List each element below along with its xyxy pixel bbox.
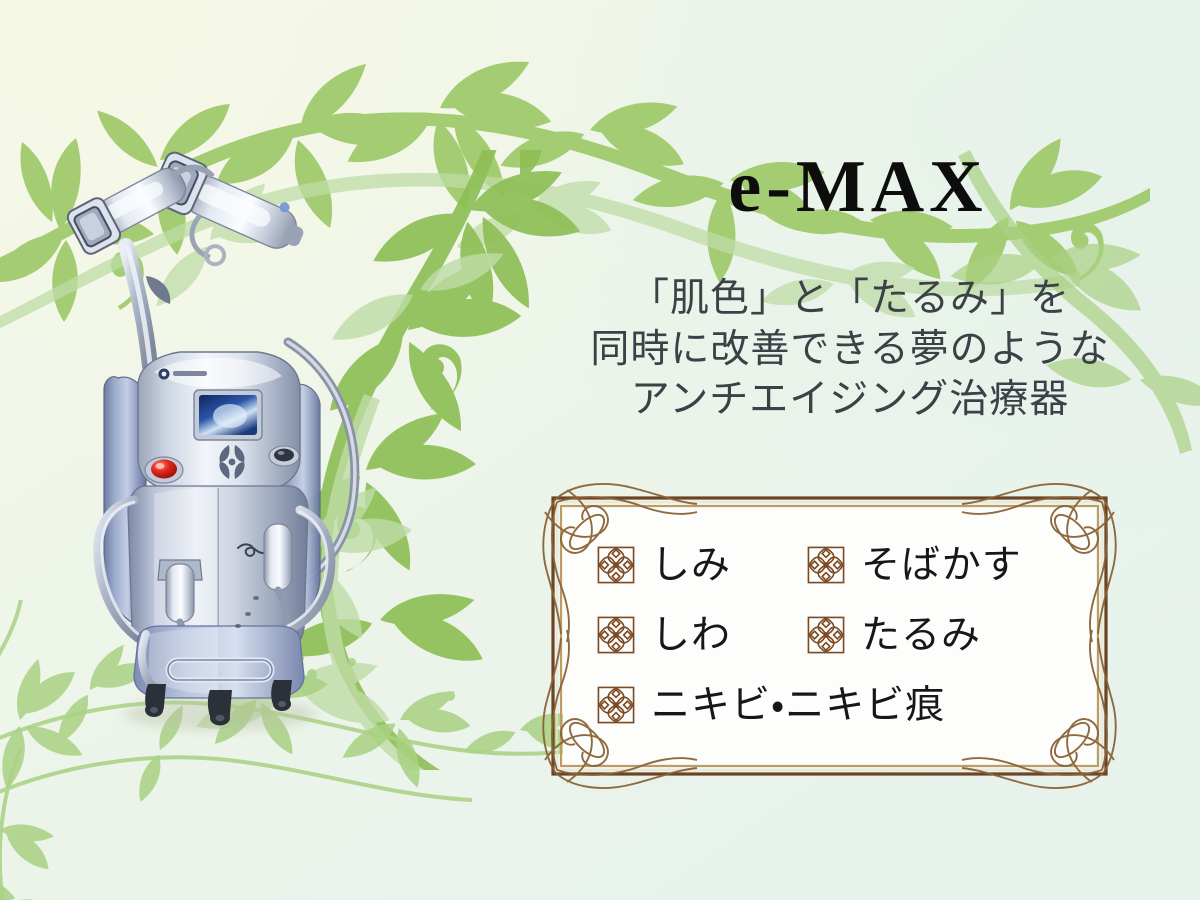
quatrefoil-ornament-icon: [597, 686, 635, 724]
quatrefoil-ornament-icon: [807, 616, 845, 654]
page-title: e-MAX: [520, 150, 1160, 224]
quatrefoil-ornament-icon: [807, 546, 845, 584]
symptom-list: しみ: [597, 530, 1067, 740]
symptom-label: たるみ: [861, 616, 981, 655]
subtitle-line-2: 同時に改善できる夢のような: [540, 325, 1160, 376]
symptom-item: たるみ: [807, 616, 1062, 655]
text-column: e-MAX 「肌色」と「たるみ」を 同時に改善できる夢のような アンチエイジング…: [520, 150, 1160, 426]
symptom-row: ニキビ・ニキビ痕: [597, 670, 1067, 740]
poster-canvas: e-MAX 「肌色」と「たるみ」を 同時に改善できる夢のような アンチエイジング…: [0, 0, 1200, 900]
subtitle-line-1: 「肌色」と「たるみ」を: [540, 274, 1160, 325]
symptom-row: しみ: [597, 530, 1067, 600]
symptom-item: しわ: [597, 616, 807, 655]
quatrefoil-ornament-icon: [597, 546, 635, 584]
subtitle: 「肌色」と「たるみ」を 同時に改善できる夢のような アンチエイジング治療器: [520, 274, 1160, 426]
symptom-item: ニキビ・ニキビ痕: [597, 686, 1062, 725]
symptom-label: そばかす: [861, 546, 1022, 585]
symptom-label: ニキビ・ニキビ痕: [651, 686, 945, 725]
quatrefoil-ornament-icon: [597, 616, 635, 654]
symptom-item: しみ: [597, 546, 807, 585]
subtitle-line-3: アンチエイジング治療器: [540, 375, 1160, 426]
symptom-label: しみ: [651, 546, 731, 585]
symptom-row: しわ: [597, 600, 1067, 670]
aesthetic-laser-machine-illustration: [42, 128, 382, 738]
symptom-list-box: しみ: [537, 482, 1122, 790]
symptom-label: しわ: [651, 616, 731, 655]
symptom-item: そばかす: [807, 546, 1062, 585]
